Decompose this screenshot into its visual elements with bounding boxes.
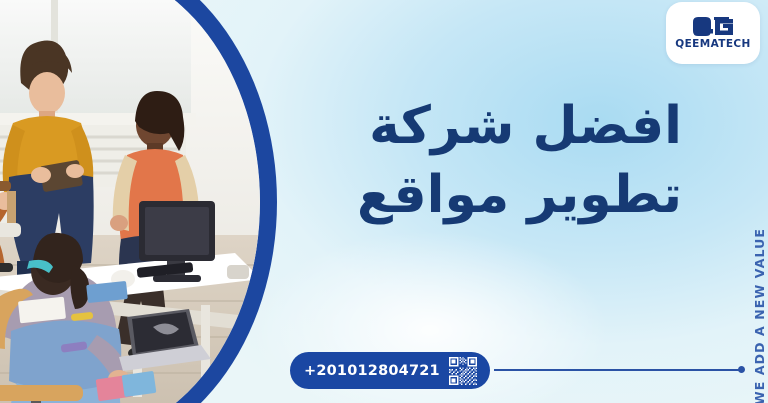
phone-contact-pill[interactable]: +201012804721 — [290, 352, 490, 389]
headline-line-1: افضل شركة — [262, 92, 682, 161]
headline-line-2: تطوير مواقع — [262, 161, 682, 230]
office-team-photo — [0, 0, 260, 403]
connector-line — [494, 369, 740, 371]
qeematech-logo[interactable]: QEEMATECH — [666, 2, 760, 64]
connector-end-dot — [738, 366, 745, 373]
qg-monogram-icon — [691, 16, 735, 38]
logo-wordmark: QEEMATECH — [675, 39, 750, 50]
blue-ring-border — [0, 0, 277, 403]
vertical-tagline: WE ADD A NEW VALUE — [752, 228, 767, 403]
phone-number-text: +201012804721 — [304, 363, 440, 379]
qr-code-icon[interactable] — [449, 357, 477, 385]
page-title: افضل شركة تطوير مواقع — [262, 92, 682, 229]
office-photo-illustration — [0, 0, 260, 403]
promo-banner: QEEMATECH افضل شركة تطوير مواقع +2010128… — [0, 0, 768, 403]
circular-photo-frame — [0, 0, 277, 403]
